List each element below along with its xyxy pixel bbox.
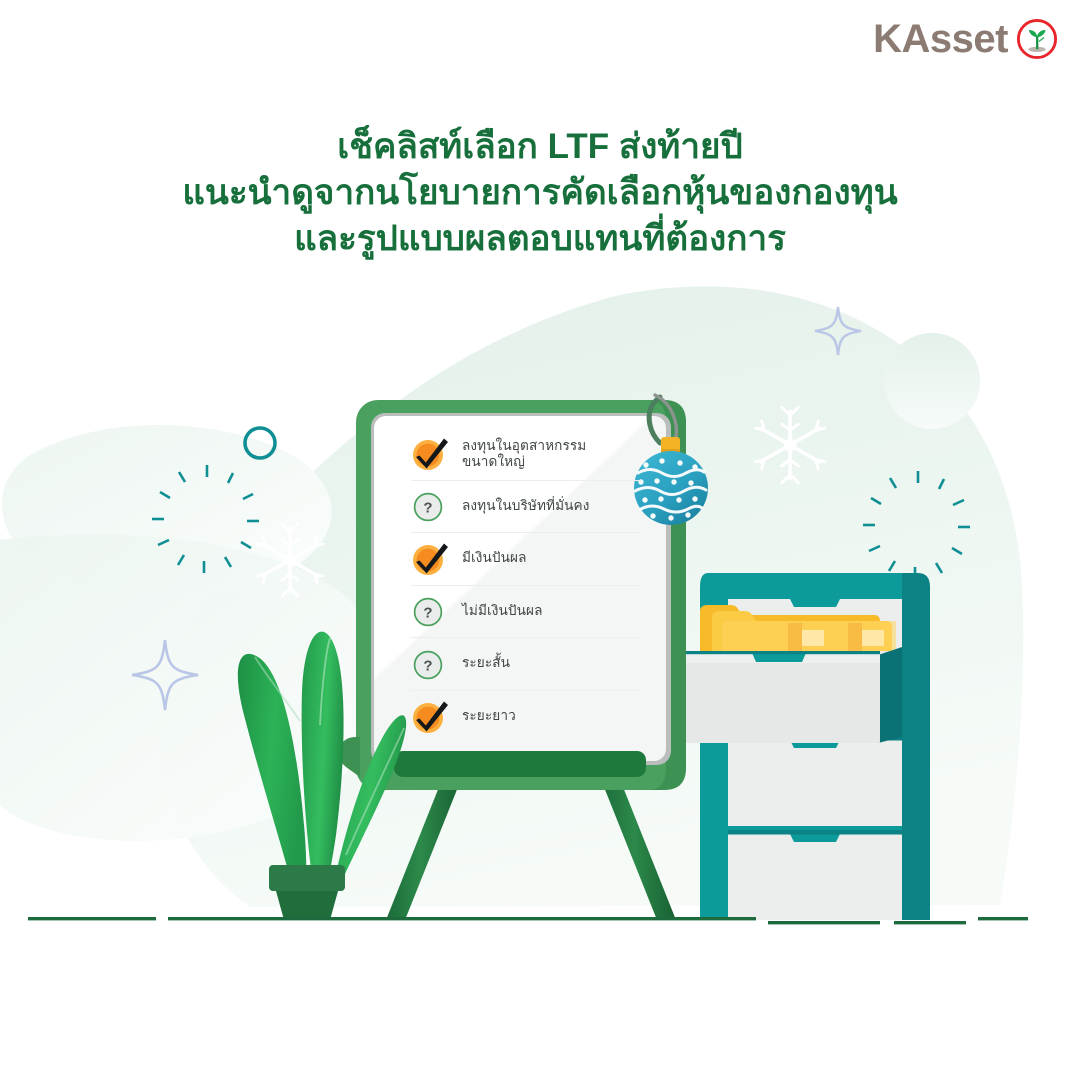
filing-cabinet <box>684 573 930 920</box>
pot-rim <box>269 865 345 891</box>
svg-text:?: ? <box>423 657 432 674</box>
orange-check-icon[interactable] <box>411 540 451 578</box>
checklist-row-label: ลงทุนในอุตสาหกรรมขนาดใหญ่ <box>451 438 586 470</box>
kasset-logo: KAsset <box>873 18 1058 60</box>
poster-canvas: KAsset เช็คลิสท์เลือก LTF ส่งท้ายปี แนะน… <box>0 0 1080 1080</box>
checklist-row-label: ลงทุนในบริษัทที่มั่นคง <box>451 498 589 515</box>
checklist-row[interactable]: ระยะยาว <box>411 691 641 744</box>
checklist-row-label: ระยะสั้น <box>451 655 510 672</box>
checklist-row[interactable]: ลงทุนในอุตสาหกรรมขนาดใหญ่ <box>411 428 641 481</box>
kasset-logo-text: KAsset <box>873 19 1008 59</box>
circle-fill-green <box>884 333 980 429</box>
question-mark-icon[interactable]: ? <box>411 487 451 525</box>
title-line-1: เช็คลิสท์เลือก LTF ส่งท้ายปี <box>0 124 1080 170</box>
question-mark-icon[interactable]: ? <box>411 592 451 630</box>
orange-check-icon[interactable] <box>411 698 451 736</box>
checklist-row[interactable]: ? ลงทุนในบริษัทที่มั่นคง <box>411 481 641 534</box>
checklist-row[interactable]: ? ไม่มีเงินปันผล <box>411 586 641 639</box>
page-title: เช็คลิสท์เลือก LTF ส่งท้ายปี แนะนำดูจากน… <box>0 124 1080 263</box>
checklist-row-label: ระยะยาว <box>451 708 516 725</box>
title-line-3: และรูปแบบผลตอบแทนที่ต้องการ <box>0 216 1080 262</box>
orange-check-icon[interactable] <box>411 435 451 473</box>
checklist-row-label: มีเงินปันผล <box>451 550 527 567</box>
svg-text:?: ? <box>423 500 432 517</box>
checklist-items: ลงทุนในอุตสาหกรรมขนาดใหญ่ ? ลงทุนในบริษั… <box>411 428 641 768</box>
checklist-row[interactable]: ? ระยะสั้น <box>411 638 641 691</box>
checklist-row[interactable]: มีเงินปันผล <box>411 533 641 586</box>
question-mark-icon[interactable]: ? <box>411 645 451 683</box>
svg-text:?: ? <box>423 605 432 622</box>
title-line-2: แนะนำดูจากนโยบายการคัดเลือกหุ้นของกองทุน <box>0 170 1080 216</box>
pot-body <box>276 891 338 920</box>
checklist-row-label: ไม่มีเงินปันผล <box>451 603 543 620</box>
sprout-in-red-circle-icon <box>1016 18 1058 60</box>
